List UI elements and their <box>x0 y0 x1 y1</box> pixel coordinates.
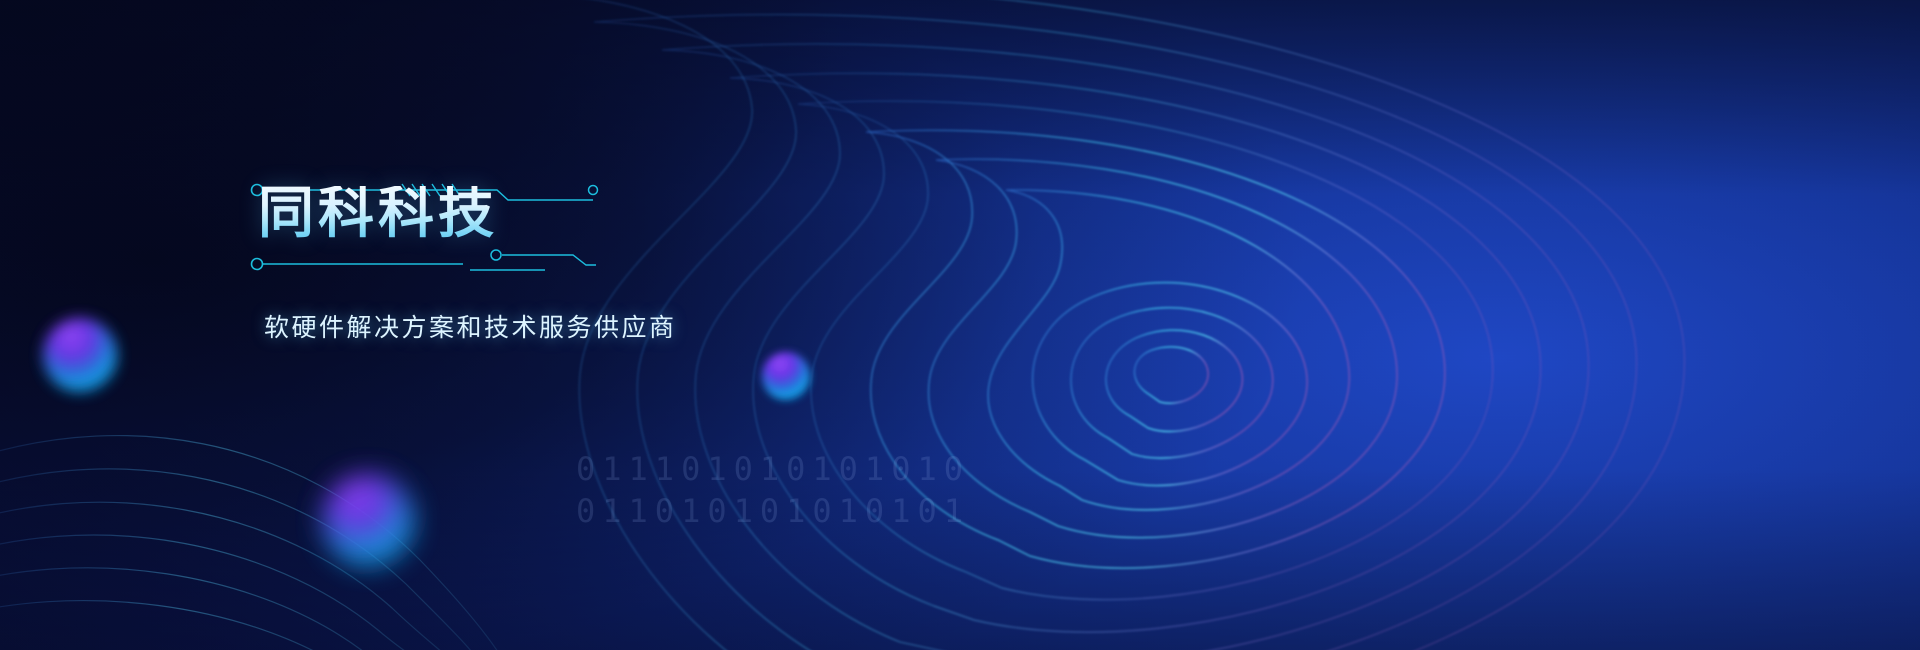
hero-banner: 011101010101010 011010101010101 同科科技 软硬件… <box>0 0 1920 650</box>
glowing-orb <box>762 352 810 400</box>
brand-title: 同科科技 <box>258 186 498 242</box>
hero-subtitle: 软硬件解决方案和技术服务供应商 <box>264 308 677 344</box>
binary-text-line: 011010101010101 <box>576 492 970 530</box>
glowing-orb <box>43 318 117 392</box>
corner-arc-lines <box>0 436 512 650</box>
glowing-orb <box>322 474 414 566</box>
brand-title-wrapper: 同科科技 <box>248 178 1008 274</box>
binary-text-line: 011101010101010 <box>576 450 970 488</box>
hero-text-block: 同科科技 软硬件解决方案和技术服务供应商 <box>248 178 1008 274</box>
